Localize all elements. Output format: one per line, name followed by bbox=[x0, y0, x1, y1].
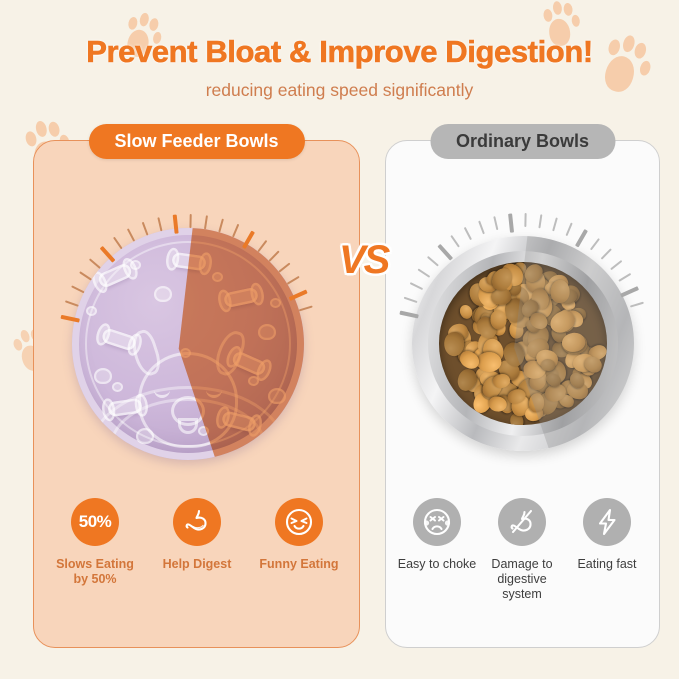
feature-help-digest[interactable]: Help Digest bbox=[149, 498, 245, 587]
page-subtitle: reducing eating speed significantly bbox=[0, 70, 679, 101]
feature-damage-digestive[interactable]: Damage to digestive system bbox=[481, 498, 563, 602]
slow-feeder-heading: Slow Feeder Bowls bbox=[88, 124, 304, 159]
infographic-stage: Prevent Bloat & Improve Digestion! reduc… bbox=[0, 0, 679, 679]
fifty-percent-value: 50% bbox=[79, 512, 112, 532]
slow-feeder-speed-ticks bbox=[72, 228, 304, 460]
feature-label: Help Digest bbox=[163, 557, 232, 572]
lightning-bolt-icon bbox=[583, 498, 631, 546]
fifty-percent-icon: 50% bbox=[71, 498, 119, 546]
ordinary-bowl-heading: Ordinary Bowls bbox=[430, 124, 615, 159]
header: Prevent Bloat & Improve Digestion! reduc… bbox=[0, 0, 679, 101]
happy-face-icon bbox=[275, 498, 323, 546]
feature-label: Easy to choke bbox=[398, 557, 477, 572]
feature-funny-eating[interactable]: Funny Eating bbox=[251, 498, 347, 587]
feature-label: Funny Eating bbox=[259, 557, 338, 572]
feature-slows-eating[interactable]: 50% Slows Eating by 50% bbox=[47, 498, 143, 587]
ordinary-bowl-speed-ticks bbox=[412, 228, 634, 450]
slow-feeder-features: 50% Slows Eating by 50% Help Digest bbox=[47, 498, 347, 587]
feature-label: Eating fast bbox=[577, 557, 636, 572]
feature-label: Slows Eating by 50% bbox=[56, 557, 134, 587]
page-title: Prevent Bloat & Improve Digestion! bbox=[0, 0, 679, 70]
sad-face-icon bbox=[413, 498, 461, 546]
crossed-stomach-icon bbox=[498, 498, 546, 546]
feature-easy-to-choke[interactable]: Easy to choke bbox=[396, 498, 478, 602]
vs-badge: VS bbox=[339, 238, 388, 283]
ordinary-bowl-features: Easy to choke Damage to digestive system… bbox=[396, 498, 648, 602]
stomach-icon bbox=[173, 498, 221, 546]
feature-label: Damage to digestive system bbox=[481, 557, 563, 602]
feature-eating-fast[interactable]: Eating fast bbox=[566, 498, 648, 602]
